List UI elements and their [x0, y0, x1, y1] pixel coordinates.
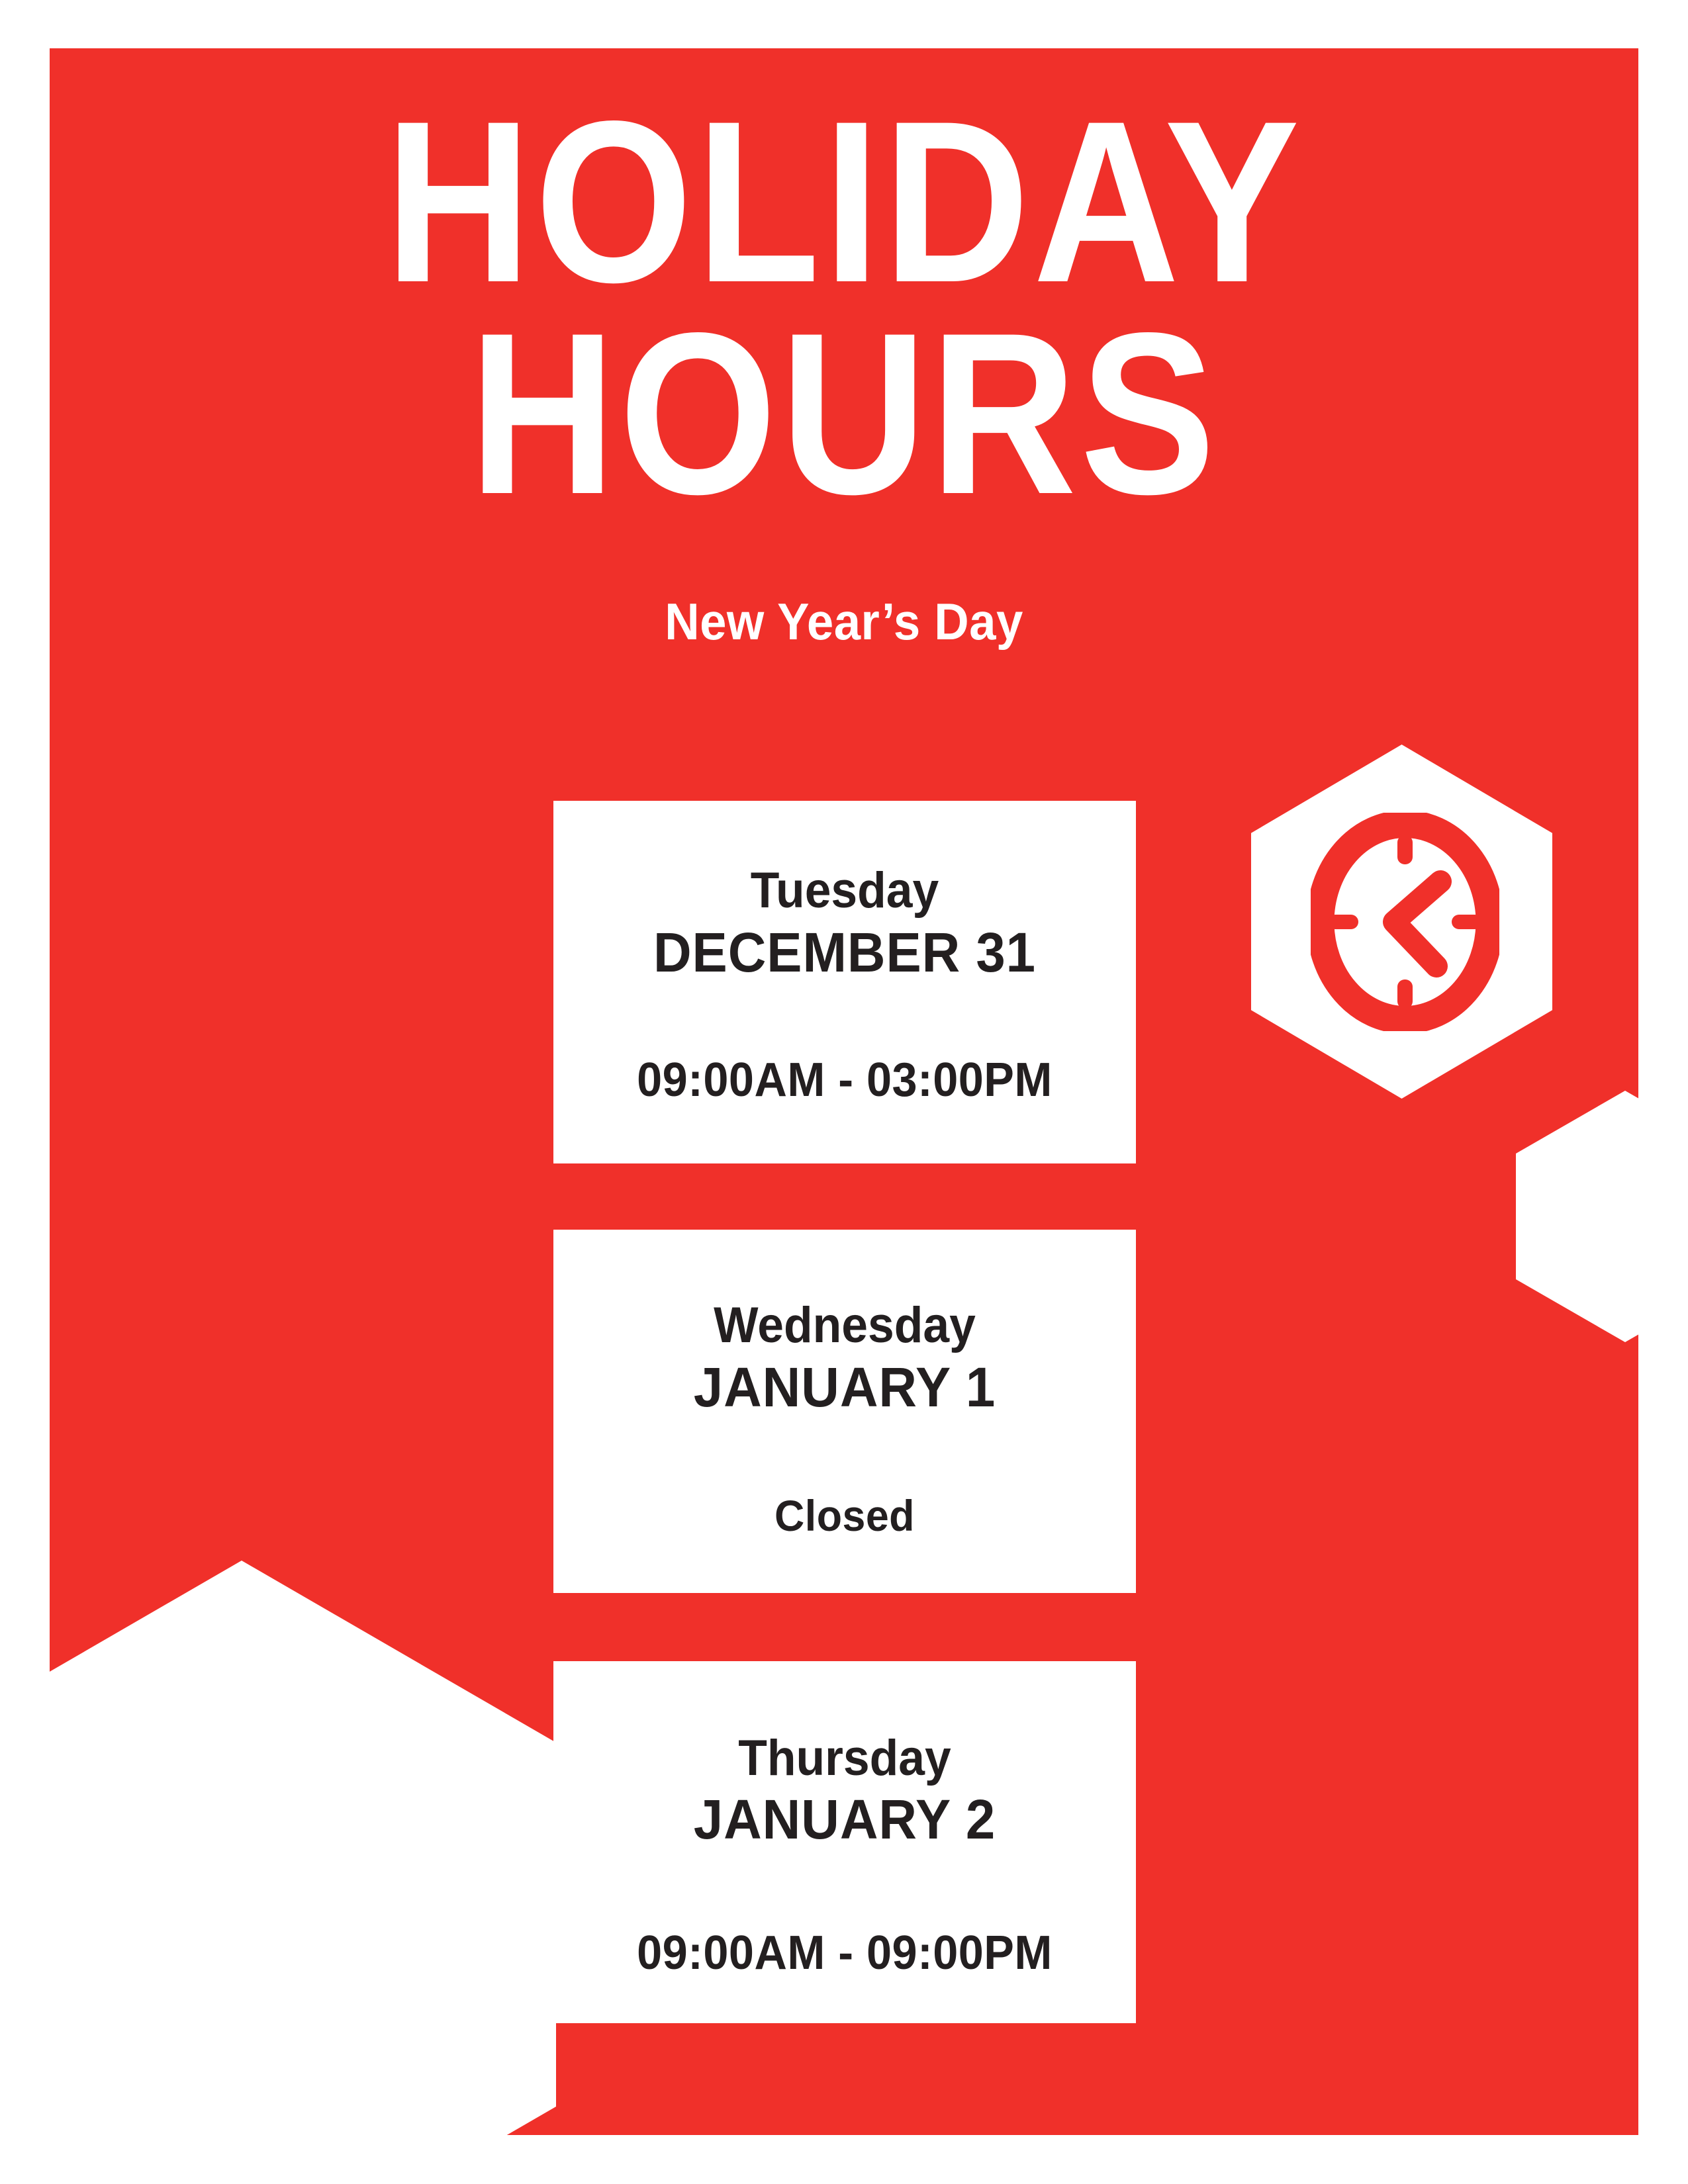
- card-hours: Closed: [581, 1493, 1109, 1539]
- schedule-card: Wednesday JANUARY 1 Closed: [553, 1230, 1136, 1593]
- clock-icon: [1311, 813, 1499, 1031]
- card-hours: 09:00AM - 03:00PM: [581, 1056, 1109, 1106]
- card-weekday: Thursday: [583, 1733, 1106, 1784]
- card-hours: 09:00AM - 09:00PM: [581, 1929, 1109, 1979]
- schedule-list: Tuesday DECEMBER 31 09:00AM - 03:00PM We…: [553, 801, 1136, 2023]
- schedule-card: Tuesday DECEMBER 31 09:00AM - 03:00PM: [553, 801, 1136, 1163]
- schedule-card: Thursday JANUARY 2 09:00AM - 09:00PM: [553, 1661, 1136, 2023]
- hexagon-accent-right-icon: [1516, 1091, 1638, 1342]
- card-weekday: Wednesday: [583, 1300, 1106, 1351]
- card-weekday: Tuesday: [583, 865, 1106, 917]
- poster-subtitle: New Year’s Day: [105, 596, 1583, 647]
- holiday-hours-poster: HOLIDAY HOURS New Year’s Day Tuesday DEC…: [0, 0, 1688, 2184]
- card-date: JANUARY 2: [581, 1790, 1109, 1848]
- hexagon-accent-bottom-left-icon: [50, 1561, 556, 2135]
- card-date: JANUARY 1: [581, 1358, 1109, 1416]
- card-date: DECEMBER 31: [581, 923, 1109, 981]
